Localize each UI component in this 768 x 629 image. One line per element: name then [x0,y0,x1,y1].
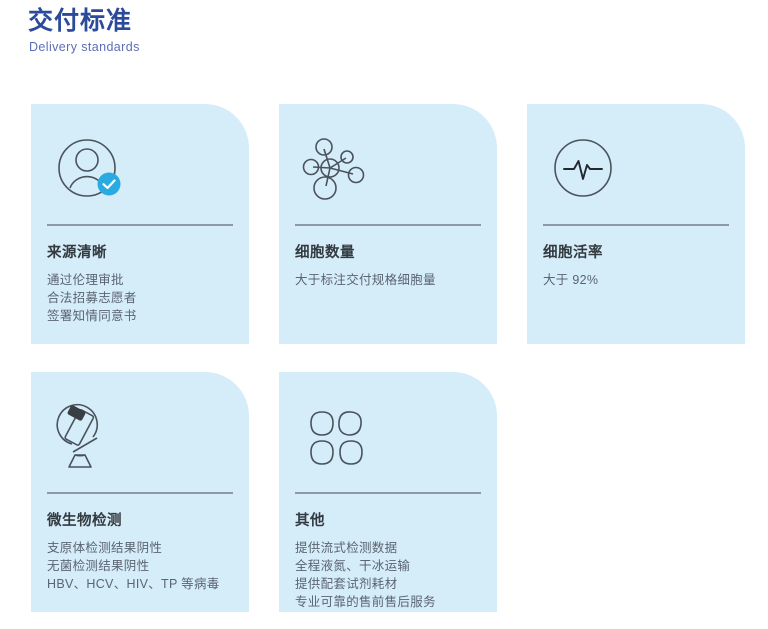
card-cell-viability[interactable]: 细胞活率 大于 92% [527,104,745,344]
card-lines: 大于 92% [543,271,729,289]
card-title: 细胞数量 [295,244,481,262]
card-divider [543,224,729,226]
pulse-circle-icon [543,130,729,212]
card-other[interactable]: 其他 提供流式检测数据 全程液氮、干冰运输 提供配套试剂耗材 专业可靠的售前售后… [279,372,497,612]
card-title: 来源清晰 [47,244,233,262]
card-line: 签署知情同意书 [47,307,233,325]
card-line: 支原体检测结果阴性 [47,539,233,557]
card-line: 提供配套试剂耗材 [295,575,481,593]
card-line: 无菌检测结果阴性 [47,557,233,575]
page-subtitle: Delivery standards [29,39,140,55]
card-title: 细胞活率 [543,244,729,262]
card-divider [47,224,233,226]
card-divider [47,492,233,494]
card-line: 通过伦理审批 [47,271,233,289]
card-line: 合法招募志愿者 [47,289,233,307]
microscope-icon [47,398,233,480]
delivery-standards-card-grid: 来源清晰 通过伦理审批 合法招募志愿者 签署知情同意书 [31,104,741,612]
card-source-clarity[interactable]: 来源清晰 通过伦理审批 合法招募志愿者 签署知情同意书 [31,104,249,344]
card-cell-count[interactable]: 细胞数量 大于标注交付规格细胞量 [279,104,497,344]
card-line: 专业可靠的售前售后服务 [295,593,481,611]
card-lines: 提供流式检测数据 全程液氮、干冰运输 提供配套试剂耗材 专业可靠的售前售后服务 [295,539,481,611]
card-divider [295,224,481,226]
card-microbiology-test[interactable]: 微生物检测 支原体检测结果阴性 无菌检测结果阴性 HBV、HCV、HIV、TP … [31,372,249,612]
card-line: 大于 92% [543,271,729,289]
four-cells-grid-icon [295,398,481,480]
page-header: 交付标准 Delivery standards [28,6,140,55]
person-verified-icon [47,130,233,212]
card-lines: 支原体检测结果阴性 无菌检测结果阴性 HBV、HCV、HIV、TP 等病毒 [47,539,233,593]
card-line: HBV、HCV、HIV、TP 等病毒 [47,575,233,593]
card-line: 提供流式检测数据 [295,539,481,557]
card-lines: 通过伦理审批 合法招募志愿者 签署知情同意书 [47,271,233,325]
card-title: 微生物检测 [47,512,233,530]
card-line: 大于标注交付规格细胞量 [295,271,481,289]
card-title: 其他 [295,512,481,530]
molecule-cluster-icon [295,130,481,212]
page-title: 交付标准 [28,6,140,36]
card-line: 全程液氮、干冰运输 [295,557,481,575]
card-lines: 大于标注交付规格细胞量 [295,271,481,289]
card-divider [295,492,481,494]
